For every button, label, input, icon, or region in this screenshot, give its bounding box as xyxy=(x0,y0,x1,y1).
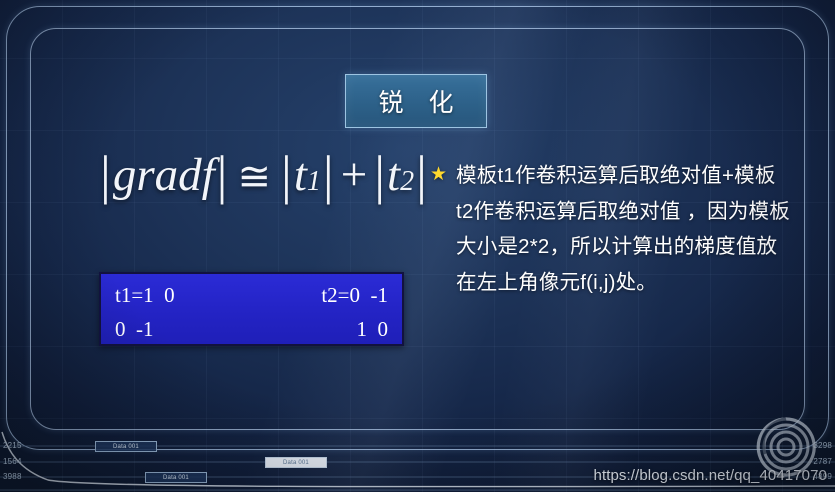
slide-canvas: 锐 化 | gradf | ≅ | t1 | + | t2 | t1=1 0 t… xyxy=(0,0,835,492)
matrix-row: t1=1 0 t2=0 -1 xyxy=(115,279,388,313)
footer-tick-left-2: 1564 xyxy=(3,457,22,466)
matrix-t1-row1: t1=1 0 xyxy=(115,279,175,313)
footer-tick-left-1: 2215 xyxy=(3,441,22,450)
footer-data-chip: Data 001 xyxy=(265,457,327,468)
footer-tick-left-3: 3988 xyxy=(3,472,22,481)
bullet-text: 模板t1作卷积运算后取绝对值+模板t2作卷积运算后取绝对值 ，因为模板大小是2*… xyxy=(456,158,790,300)
formula-term1-base: t xyxy=(294,148,307,202)
star-icon: ★ xyxy=(430,158,447,192)
formula-bar-open-t1: | xyxy=(279,151,294,200)
formula-operator: + xyxy=(336,148,373,202)
formula-bar-close-t1: | xyxy=(321,151,336,200)
matrix-t1-row2: 0 -1 xyxy=(115,313,154,347)
formula-term1-subscript: 1 xyxy=(307,166,321,198)
matrix-row: 0 -1 1 0 xyxy=(115,313,388,347)
formula-term2-base: t xyxy=(387,148,400,202)
template-matrix-panel: t1=1 0 t2=0 -1 0 -1 1 0 xyxy=(99,272,404,346)
watermark-url: https://blog.csdn.net/qq_40417070 xyxy=(594,467,828,484)
footer-data-chip: Data 001 xyxy=(95,441,157,452)
formula-lhs-variable: gradf xyxy=(113,148,215,202)
formula-term2-subscript: 2 xyxy=(400,166,414,198)
matrix-t2-row1: t2=0 -1 xyxy=(321,279,388,313)
page-title: 锐 化 xyxy=(370,83,463,119)
formula-bar-close-lhs: | xyxy=(215,151,230,200)
slide-title-plate: 锐 化 xyxy=(345,74,487,128)
bullet-paragraph: ★ 模板t1作卷积运算后取绝对值+模板t2作卷积运算后取绝对值 ，因为模板大小是… xyxy=(430,158,790,300)
formula-bar-open-t2: | xyxy=(372,151,387,200)
formula-relation: ≅ xyxy=(229,153,279,200)
matrix-t2-row2: 1 0 xyxy=(357,313,389,347)
formula-bar-open-lhs: | xyxy=(98,151,113,200)
formula-bar-close-t2: | xyxy=(414,151,429,200)
footer-data-chip: Data 001 xyxy=(145,472,207,483)
gradient-formula: | gradf | ≅ | t1 | + | t2 | xyxy=(98,148,418,202)
